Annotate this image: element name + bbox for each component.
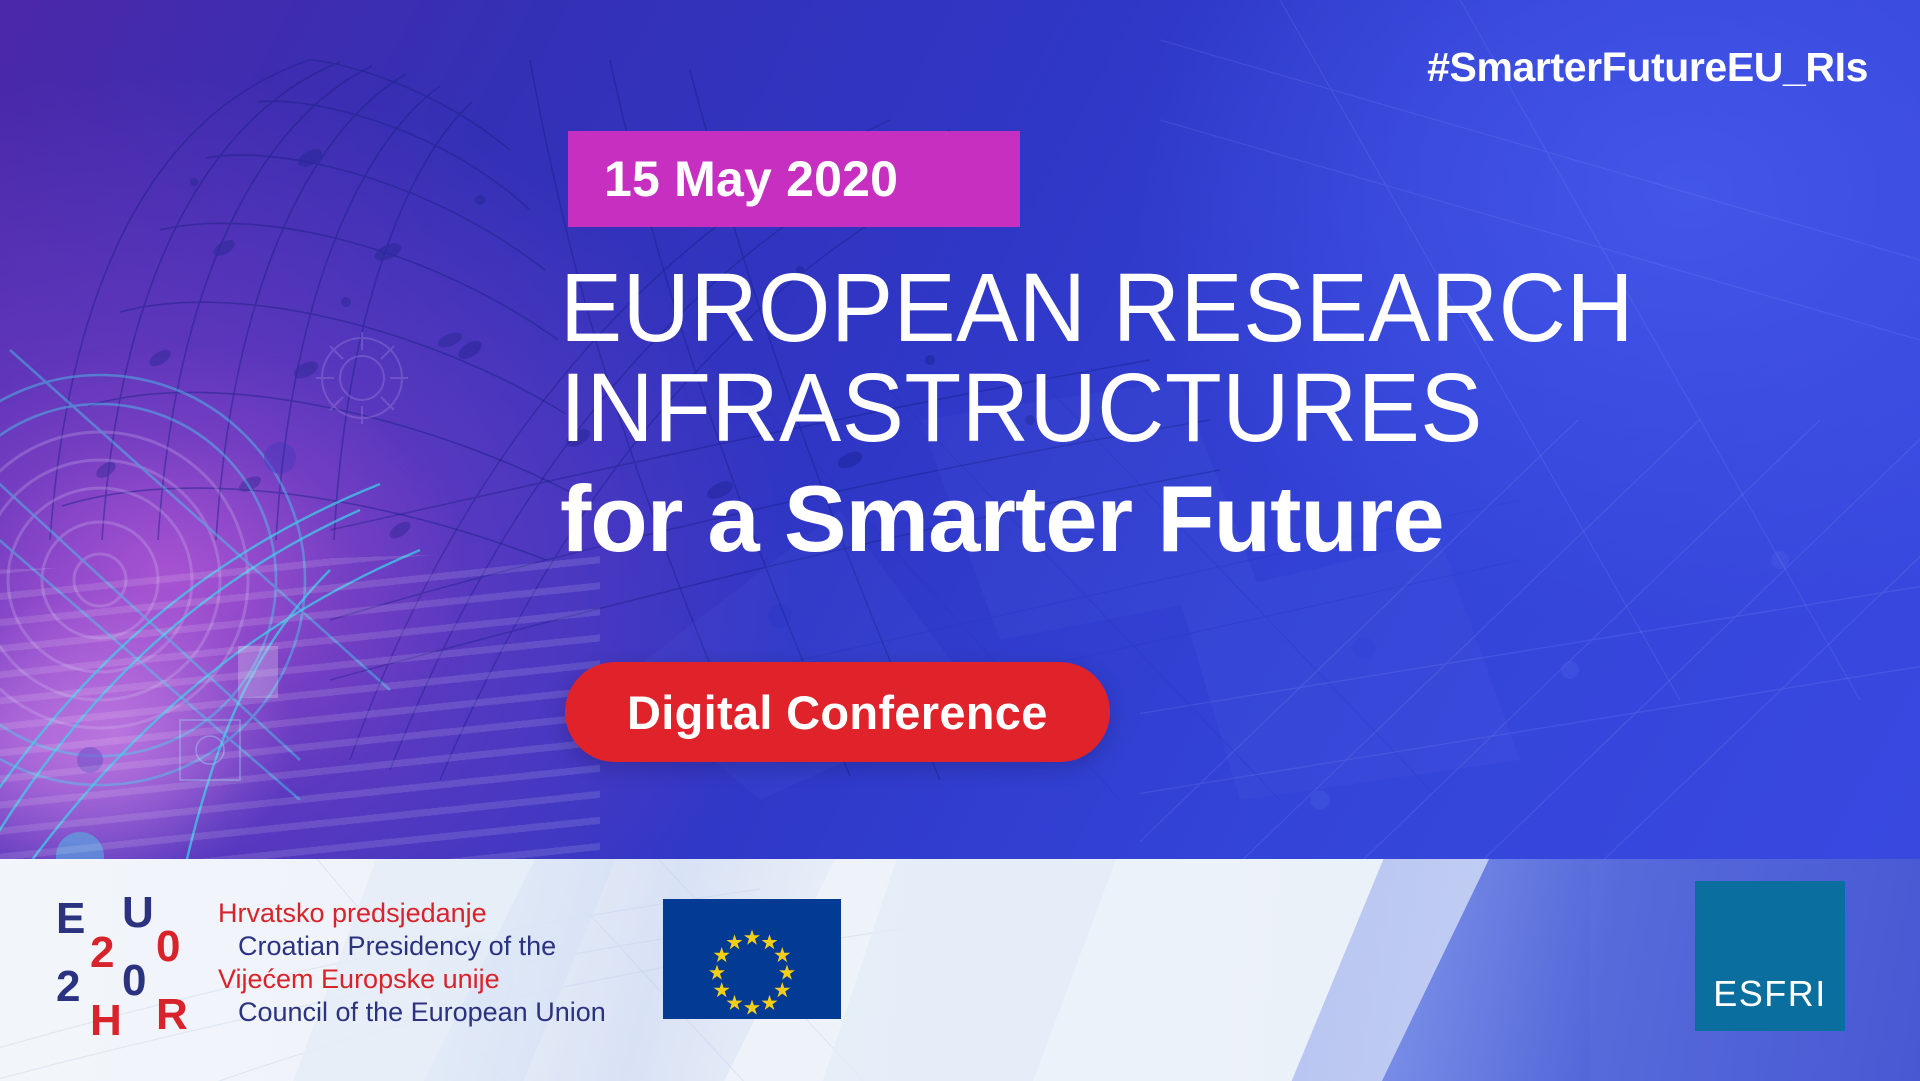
conference-banner: #SmarterFutureEU_RIs 15 May 2020 EUROPEA… — [0, 0, 1920, 1081]
logo-letter-0a: 0 — [156, 925, 180, 969]
logo-letter-u: U — [122, 891, 154, 935]
logo-letter-2b: 2 — [56, 965, 80, 1009]
esfri-label: ESFRI — [1713, 973, 1827, 1015]
presidency-line-en-2: Council of the European Union — [218, 996, 606, 1029]
presidency-line-en-1: Croatian Presidency of the — [218, 930, 606, 963]
logo-letter-e: E — [56, 897, 85, 941]
title-line-1: EUROPEAN RESEARCH — [560, 258, 1741, 358]
date-badge-label: 15 May 2020 — [604, 150, 898, 208]
event-hashtag: #SmarterFutureEU_RIs — [1427, 44, 1868, 91]
logo-letter-h: H — [90, 999, 122, 1043]
digital-conference-label: Digital Conference — [627, 685, 1048, 740]
light-streak-decoration — [0, 549, 600, 901]
european-union-flag — [663, 899, 841, 1019]
wireframe-dome-decoration — [10, 40, 570, 560]
footer-logo-bar: E U 2 0 2 0 H R Hrvatsko predsjedanje Cr… — [0, 859, 1920, 1081]
croatian-presidency-logo-mark: E U 2 0 2 0 H R — [56, 895, 194, 1031]
presidency-line-hr-1: Hrvatsko predsjedanje — [218, 897, 606, 930]
digital-conference-badge[interactable]: Digital Conference — [565, 662, 1110, 762]
presidency-line-hr-2: Vijećem Europske unije — [218, 963, 606, 996]
gear-decoration — [0, 330, 440, 800]
logo-letter-2a: 2 — [90, 931, 114, 975]
title-line-2: INFRASTRUCTURES — [560, 358, 1741, 458]
title-block: EUROPEAN RESEARCH INFRASTRUCTURES for a … — [560, 258, 1790, 571]
date-badge: 15 May 2020 — [568, 131, 1020, 227]
title-line-3: for a Smarter Future — [560, 466, 1790, 571]
cyan-arc-decoration — [0, 420, 560, 890]
eu-flag-stars — [663, 899, 841, 1019]
croatian-presidency-text: Hrvatsko predsjedanje Croatian Presidenc… — [218, 897, 606, 1029]
esfri-logo: ESFRI — [1695, 881, 1845, 1031]
logo-letter-r: R — [156, 993, 188, 1037]
logo-letter-0b: 0 — [122, 959, 146, 1003]
